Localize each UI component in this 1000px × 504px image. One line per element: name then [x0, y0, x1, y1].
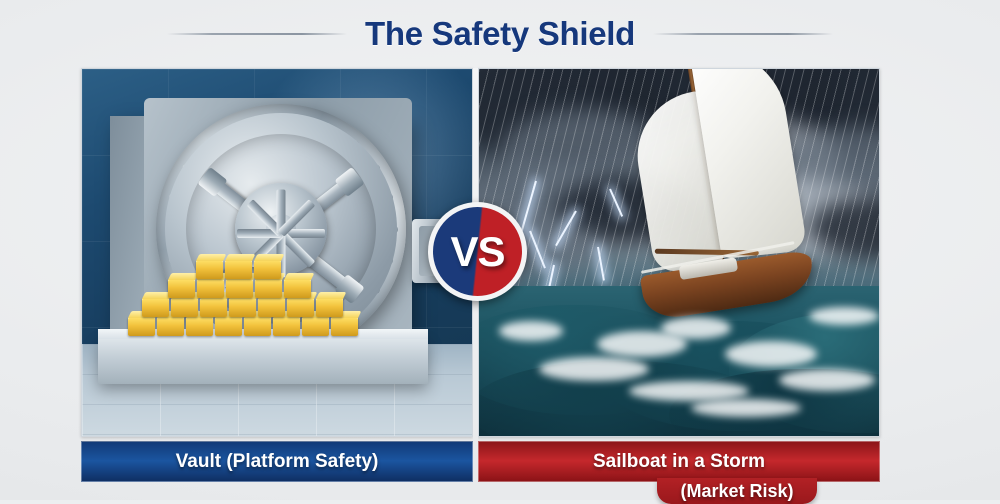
- gold-bar: [258, 298, 285, 317]
- panel-vault[interactable]: [81, 68, 473, 437]
- vault-bolt: [230, 123, 239, 132]
- gold-bar-stack: [128, 243, 378, 339]
- gold-bar: [157, 317, 184, 336]
- header-rule-right: [653, 33, 833, 35]
- gold-bar: [197, 279, 224, 298]
- header-rule-left: [167, 33, 347, 35]
- gold-bar: [229, 298, 256, 317]
- caption-right-overflow-tab: (Market Risk): [657, 478, 817, 504]
- page-header: The Safety Shield: [0, 0, 1000, 68]
- gold-bar: [287, 298, 314, 317]
- vault-locking-bolt: [201, 171, 285, 240]
- gold-bar: [273, 317, 300, 336]
- gold-bar: [200, 298, 227, 317]
- foam-crest: [499, 321, 563, 341]
- gold-bar: [215, 317, 242, 336]
- vault-bolt: [384, 193, 393, 202]
- foam-crest: [809, 307, 879, 325]
- foam-crest: [725, 341, 817, 367]
- vault-bolt: [261, 114, 270, 123]
- panel-storm[interactable]: [478, 68, 880, 437]
- vault-bolt: [323, 123, 332, 132]
- gold-bar: [128, 317, 155, 336]
- gold-bar: [254, 260, 281, 279]
- vault-pedestal: [98, 338, 428, 384]
- gold-bar: [168, 279, 195, 298]
- vault-bolt: [292, 114, 301, 123]
- foam-crest: [629, 381, 749, 401]
- gold-bar: [196, 260, 223, 279]
- foam-crest: [691, 399, 801, 417]
- storm-image: [479, 69, 879, 436]
- gold-bar: [186, 317, 213, 336]
- vs-badge-split: VS: [433, 207, 522, 296]
- gold-bar: [225, 260, 252, 279]
- caption-left-text: Vault (Platform Safety): [176, 451, 379, 473]
- page-title: The Safety Shield: [365, 15, 635, 53]
- gold-bar: [171, 298, 198, 317]
- comparison-stage: VS Vault (Platform Safety) Sailboat in a…: [81, 68, 880, 479]
- caption-right-line1: Sailboat in a Storm: [593, 452, 765, 472]
- sailboat: [614, 120, 844, 359]
- vault-bolt: [165, 225, 174, 234]
- gold-bar: [255, 279, 282, 298]
- vault-bolt: [389, 225, 398, 234]
- gold-bar: [316, 298, 343, 317]
- gold-bar: [331, 317, 358, 336]
- vault-bolt: [169, 193, 178, 202]
- gold-bar: [302, 317, 329, 336]
- caption-right-line2: (Market Risk): [680, 481, 793, 502]
- caption-bar-left: Vault (Platform Safety): [81, 441, 473, 482]
- vault-image: [82, 69, 472, 436]
- caption-bar-right: Sailboat in a Storm (Market Risk): [478, 441, 880, 482]
- vs-label: VS: [433, 207, 522, 296]
- gold-bar: [244, 317, 271, 336]
- gold-bar: [226, 279, 253, 298]
- foam-crest: [661, 317, 731, 339]
- vs-badge: VS: [428, 202, 527, 301]
- vault-locking-bolt: [277, 171, 361, 240]
- foam-crest: [539, 357, 649, 381]
- foam-crest: [779, 369, 875, 391]
- gold-bar: [142, 298, 169, 317]
- gold-bar: [284, 279, 311, 298]
- vault-bolt: [384, 256, 393, 265]
